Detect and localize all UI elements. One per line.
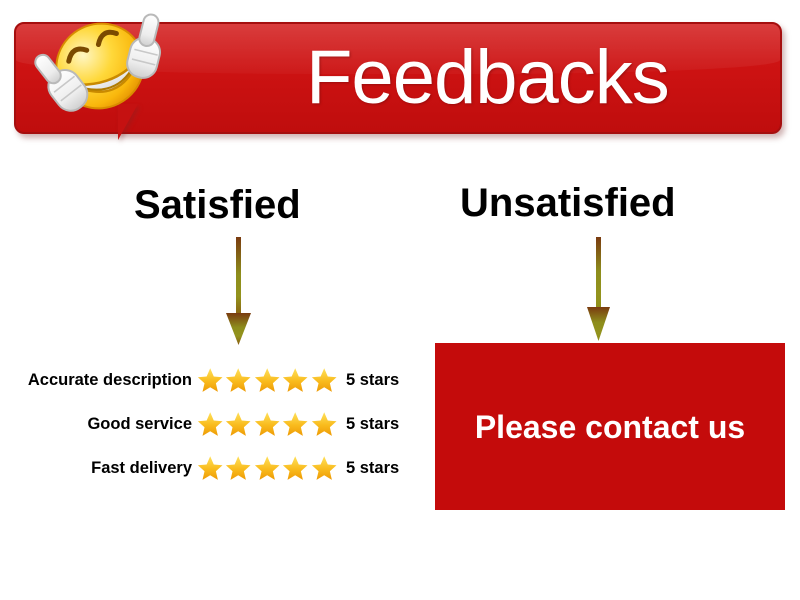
arrow-down-satisfied-icon <box>222 237 256 352</box>
table-row: Fast delivery 5 stars <box>0 446 420 490</box>
heading-satisfied: Satisfied <box>134 185 301 225</box>
rating-stars-good-service <box>196 410 338 439</box>
rating-value: 5 stars <box>338 459 399 478</box>
contact-us-text: Please contact us <box>449 399 771 455</box>
rating-value: 5 stars <box>338 371 399 390</box>
banner-title: Feedbacks <box>306 40 669 116</box>
laughing-face-thumbs-up-icon <box>22 8 182 128</box>
heading-unsatisfied: Unsatisfied <box>460 183 676 223</box>
rating-stars-fast-delivery <box>196 454 338 483</box>
table-row: Accurate description 5 stars <box>0 358 420 402</box>
arrow-down-unsatisfied-icon <box>582 237 616 352</box>
rating-label: Accurate description <box>0 371 196 390</box>
rating-value: 5 stars <box>338 415 399 434</box>
ratings-table: Accurate description 5 stars Good servic… <box>0 358 420 490</box>
rating-label: Good service <box>0 415 196 434</box>
contact-us-box: Please contact us <box>435 343 785 510</box>
rating-label: Fast delivery <box>0 459 196 478</box>
table-row: Good service 5 stars <box>0 402 420 446</box>
rating-stars-accurate-description <box>196 366 338 395</box>
